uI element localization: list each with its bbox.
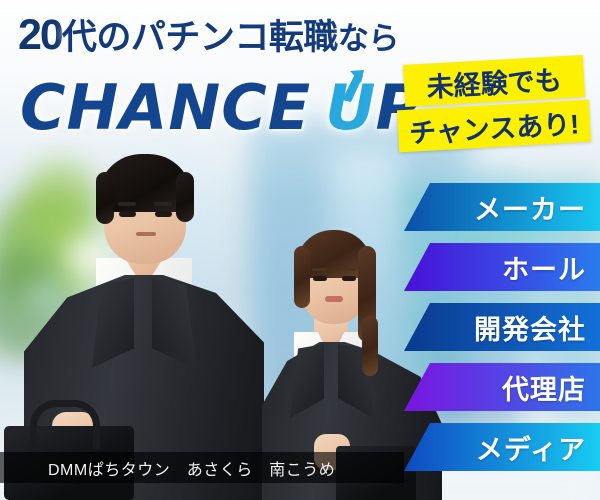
category-button-maker[interactable]: メーカー (404, 183, 600, 231)
credit-text: DMMぱちタウン あさくら 南こうめ (48, 456, 335, 480)
advertisement-banner[interactable]: 20代のパチンコ転職なら CHANCEUP 未経験でも チャンスあり! メーカー… (0, 0, 600, 500)
credit-bar: DMMぱちタウン あさくら 南こうめ (0, 452, 404, 483)
chance-up-logo: CHANCEUP (20, 72, 421, 144)
headline: 20代のパチンコ転職なら (18, 14, 399, 57)
logo-word-chance: CHANCE (20, 71, 311, 144)
badge-label: 未経験でも (426, 58, 563, 104)
category-label: メーカー (474, 188, 586, 227)
category-label: メディア (476, 428, 586, 467)
category-button-agency[interactable]: 代理店 (404, 363, 600, 411)
category-label: 開発会社 (474, 308, 586, 347)
headline-main: 代のパチンコ転職 (62, 18, 338, 57)
person-male (0, 150, 280, 500)
category-button-development-company[interactable]: 開発会社 (404, 303, 600, 351)
category-label: ホール (502, 248, 586, 287)
badge-label: チャンスあり! (408, 102, 580, 150)
category-label: 代理店 (502, 368, 586, 407)
category-button-list: メーカー ホール 開発会社 代理店 メディア (404, 183, 600, 483)
category-button-media[interactable]: メディア (404, 423, 600, 471)
category-button-hall[interactable]: ホール (404, 243, 600, 291)
logo-letter-u: U (325, 71, 375, 144)
headline-suffix: なら (338, 21, 399, 56)
headline-number: 20 (18, 11, 62, 59)
